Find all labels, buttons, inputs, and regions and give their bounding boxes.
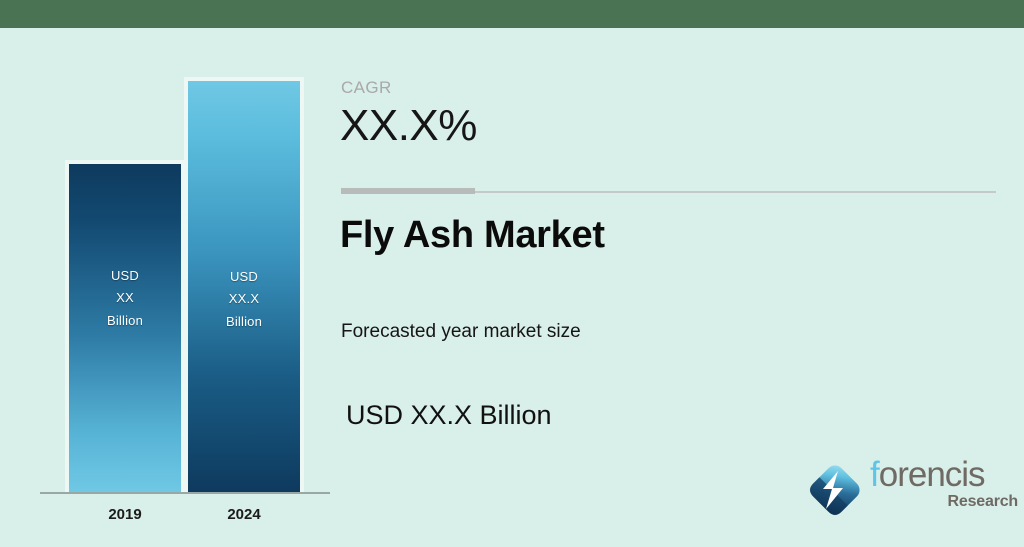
x-axis-tick-2019: 2019 bbox=[65, 506, 185, 523]
content-panel: CAGR XX.X% Fly Ash Market Forecasted yea… bbox=[340, 28, 1024, 547]
bar-2024-unit: Billion bbox=[188, 311, 300, 333]
bar-2024-amount: XX.X bbox=[188, 288, 300, 310]
bar-2019-currency: USD bbox=[69, 265, 181, 287]
x-axis-line bbox=[40, 492, 330, 494]
top-accent-band bbox=[0, 0, 1024, 28]
logo-word-forencis: forencis bbox=[870, 457, 985, 492]
page-title: Fly Ash Market bbox=[340, 214, 605, 257]
x-axis-tick-2024: 2024 bbox=[184, 506, 304, 523]
bar-2019-amount: XX bbox=[69, 287, 181, 309]
bar-2019: USD XX Billion bbox=[65, 160, 185, 492]
forencis-diamond-bolt-icon bbox=[802, 457, 868, 523]
bar-2019-unit: Billion bbox=[69, 310, 181, 332]
forecast-label: Forecasted year market size bbox=[341, 321, 581, 343]
forecast-value: USD XX.X Billion bbox=[346, 400, 552, 431]
bar-2019-label: USD XX Billion bbox=[69, 265, 181, 332]
divider-accent-segment bbox=[341, 188, 475, 194]
market-size-bar-chart: USD XX Billion USD XX.X Billion 2019 202… bbox=[0, 28, 335, 547]
section-divider bbox=[341, 188, 996, 194]
bar-2024-currency: USD bbox=[188, 266, 300, 288]
logo-subtitle: Research bbox=[948, 493, 1018, 511]
cagr-label: CAGR bbox=[341, 78, 392, 98]
divider-rule bbox=[475, 191, 996, 193]
bar-2024-label: USD XX.X Billion bbox=[188, 266, 300, 333]
logo-initial-f: f bbox=[870, 455, 879, 494]
cagr-value: XX.X% bbox=[340, 101, 477, 151]
bar-2024: USD XX.X Billion bbox=[184, 77, 304, 492]
fly-ash-market-infographic: USD XX Billion USD XX.X Billion 2019 202… bbox=[0, 0, 1024, 547]
forencis-research-logo[interactable]: forencis Research bbox=[802, 449, 1017, 531]
logo-word-rest: orencis bbox=[879, 455, 985, 494]
logo-wordmark: forencis Research bbox=[870, 457, 1020, 519]
